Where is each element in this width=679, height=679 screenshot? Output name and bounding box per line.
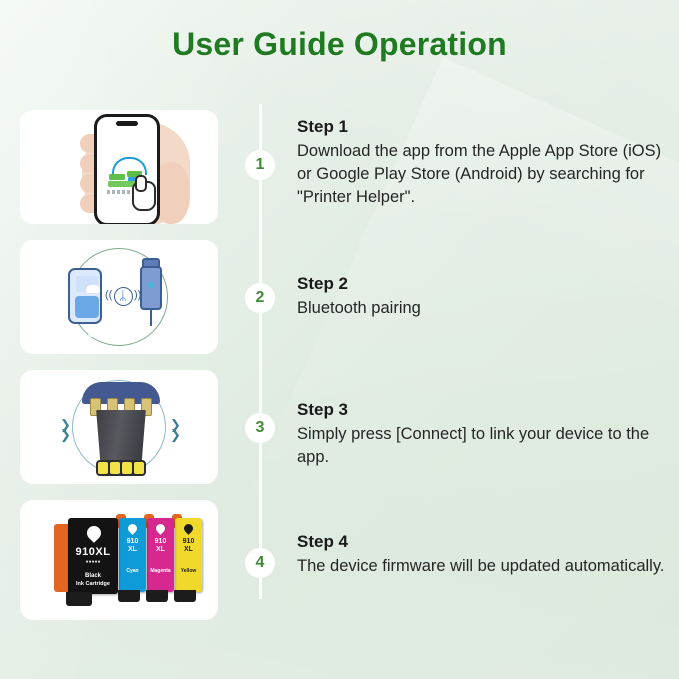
phone-screen-top (76, 276, 98, 292)
cartridge-black: 910XL ●●●●● Black Ink Cartridge (68, 518, 118, 594)
app-card-dot (88, 329, 96, 337)
illustration-connector-chip: ❯ ❯ ❯ ❯ (20, 370, 218, 484)
step-body-2: Bluetooth pairing (297, 297, 669, 320)
phone-notch (116, 121, 138, 126)
cartridge-foot-magenta (146, 590, 168, 602)
ink-drop-icon-yellow (182, 522, 195, 535)
cartridge-colorname-cyan: Cyan (119, 568, 146, 574)
bluetooth-icon: ᛦ (119, 289, 127, 302)
app-icon (106, 157, 150, 191)
cartridge-model2-yellow: XL (175, 546, 202, 553)
contact-pad (134, 462, 144, 474)
step-text-2: Step 2 Bluetooth pairing (297, 274, 669, 320)
ink-drop-icon-magenta (154, 522, 167, 535)
step-body-3: Simply press [Connect] to link your devi… (297, 423, 669, 469)
chevron-down-left-icon-2: ❯ (60, 430, 71, 440)
illustration-bluetooth-pairing: (( ᛦ )) (20, 240, 218, 354)
cartridge-model-cyan: 910 (119, 538, 146, 545)
cartridge-sub-black: ●●●●● (68, 559, 118, 565)
cartridge-yellow: 910 XL Yellow (175, 518, 202, 592)
app-card (75, 296, 99, 318)
illustration-hand-phone (20, 110, 218, 224)
cloud-icon (86, 285, 100, 293)
step-title-1: Step 1 (297, 117, 669, 137)
step-badge-3: 3 (245, 413, 275, 443)
cartridge-magenta: 910 XL Magenta (147, 518, 174, 592)
cartridge-model2-cyan: XL (119, 546, 146, 553)
user-guide-page: User Guide Operation (0, 0, 679, 679)
device-contact-pads (98, 462, 144, 474)
contact-pad (122, 462, 132, 474)
step-body-1: Download the app from the Apple App Stor… (297, 140, 669, 208)
cartridge-model-black: 910XL (68, 546, 118, 558)
ink-drop-icon-cyan (126, 522, 139, 535)
step-badge-1: 1 (245, 150, 275, 180)
contact-pad (98, 462, 108, 474)
step-title-3: Step 3 (297, 400, 669, 420)
step-image-card-1 (20, 110, 218, 224)
cartridge-colorname-yellow: Yellow (175, 568, 202, 574)
step-badge-4: 4 (245, 548, 275, 578)
cartridge-foot-yellow (174, 590, 196, 602)
step-text-1: Step 1 Download the app from the Apple A… (297, 117, 669, 208)
step-body-4: The device firmware will be updated auto… (297, 555, 669, 578)
step-image-card-3: ❯ ❯ ❯ ❯ (20, 370, 218, 484)
contact-pad (110, 462, 120, 474)
cartridge-model-yellow: 910 (175, 538, 202, 545)
bar-green-1 (109, 174, 125, 180)
device-body (94, 410, 148, 464)
step-image-card-2: (( ᛦ )) (20, 240, 218, 354)
cartridge-foot-black (66, 592, 92, 606)
step-badge-2: 2 (245, 283, 275, 313)
step-title-4: Step 4 (297, 532, 669, 552)
signal-wave-left-icon: (( (105, 290, 112, 301)
step-image-card-4: 910 XL Yellow 910 XL Magenta 910 XL Cyan (20, 500, 218, 620)
step-title-2: Step 2 (297, 274, 669, 294)
step-text-3: Step 3 Simply press [Connect] to link yo… (297, 400, 669, 469)
tap-cursor-icon (132, 181, 156, 211)
bluetooth-pair-indicator: (( ᛦ )) (105, 284, 135, 308)
page-title: User Guide Operation (0, 26, 679, 63)
step-text-4: Step 4 The device firmware will be updat… (297, 532, 669, 578)
cartridge-cyan: 910 XL Cyan (119, 518, 146, 592)
smartphone-body (94, 114, 160, 224)
ink-drop-icon-black (84, 523, 104, 543)
dongle-led (148, 282, 154, 288)
cartridge-colorname-magenta: Magenta (147, 568, 174, 574)
cartridge-type-black: Ink Cartridge (68, 581, 118, 587)
cartridge-colorname-black: Black (68, 573, 118, 579)
dongle-wire (150, 308, 152, 326)
cartridge-foot-cyan (118, 590, 140, 602)
cartridge-model-magenta: 910 (147, 538, 174, 545)
illustration-ink-cartridges: 910 XL Yellow 910 XL Magenta 910 XL Cyan (20, 500, 218, 620)
phone-small (68, 268, 102, 324)
cartridge-model2-magenta: XL (147, 546, 174, 553)
bluetooth-dongle (140, 266, 162, 310)
chevron-down-right-icon-2: ❯ (170, 430, 181, 440)
